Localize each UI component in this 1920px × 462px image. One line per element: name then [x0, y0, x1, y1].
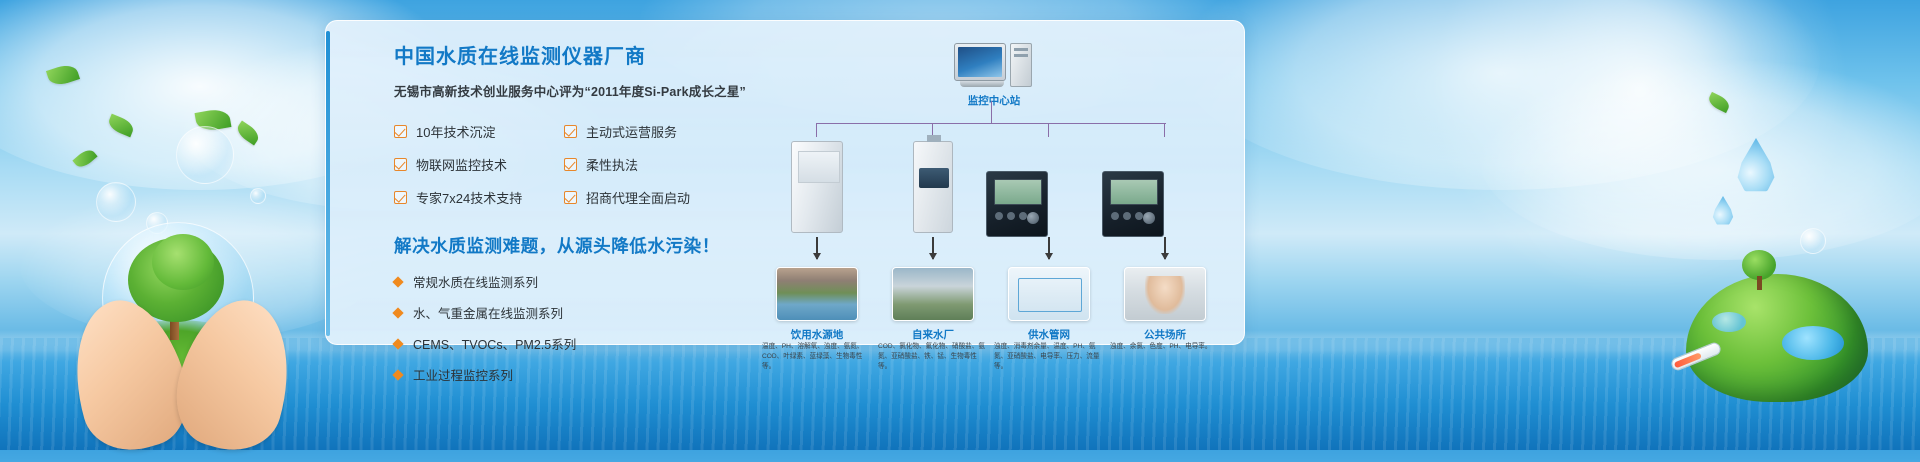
node-description: COD、氯化物、氟化物、硝酸盐、氨氮、亚硝酸盐、铁、锰、生物毒性等。 [878, 342, 990, 372]
earth-island-illustration [1686, 274, 1868, 402]
device-online-analyzer-icon [1102, 171, 1164, 237]
leaf-icon [72, 146, 97, 170]
earth-sea [1712, 312, 1746, 332]
device-cabinet-icon [786, 141, 848, 233]
section-subheading: 解决水质监测难题，从源头降低水污染！ [394, 233, 774, 258]
diamond-bullet-icon [392, 307, 403, 318]
checkbox-checked-icon [564, 158, 577, 171]
node-title: 供水管网 [994, 327, 1104, 342]
checklist-item[interactable]: 招商代理全面启动 [564, 188, 774, 207]
panel-accent-bar [326, 31, 330, 336]
list-item[interactable]: 工业过程监控系列 [394, 365, 774, 384]
tree-crown [152, 234, 214, 290]
checkbox-checked-icon [394, 158, 407, 171]
monitor-icon [954, 43, 1006, 81]
scene-photo-water-plant [892, 267, 974, 321]
checklist-label: 10年技术沉淀 [416, 122, 495, 141]
water-droplet-icon [1712, 196, 1734, 226]
node-description: 浊度、消毒剂余量、温度、PH、氨氮、亚硝酸盐、电导率、压力、流量等。 [994, 342, 1106, 372]
cloud [1180, 0, 1820, 190]
device-online-analyzer-icon [986, 171, 1048, 237]
node-title: 饮用水源地 [762, 327, 872, 342]
node-title: 自来水厂 [878, 327, 988, 342]
cloud [1480, 60, 1920, 260]
monitoring-center-computer-icon [954, 43, 1034, 89]
page-subtitle: 无锡市高新技术创业服务中心评为“2011年度Si-Park成长之星” [394, 81, 774, 100]
leaf-icon [1706, 92, 1731, 113]
diagram-center-label: 监控中心站 [926, 93, 1062, 108]
leaf-icon [234, 120, 262, 145]
checklist-label: 主动式运营服务 [586, 122, 677, 141]
earth-tree [1742, 250, 1776, 290]
monitor-stand [960, 81, 1004, 87]
content-panel: 中国水质在线监测仪器厂商 无锡市高新技术创业服务中心评为“2011年度Si-Pa… [325, 20, 1245, 345]
panel-left-column: 中国水质在线监测仪器厂商 无锡市高新技术创业服务中心评为“2011年度Si-Pa… [394, 43, 774, 384]
connector-lines [816, 111, 1166, 137]
node-description: 温度、PH、溶解氧、浊度、氨氮、COD、叶绿素、蓝绿藻、生物毒性等。 [762, 342, 874, 372]
checklist-label: 柔性执法 [586, 155, 638, 174]
list-item-label: CEMS、TVOCs、PM2.5系列 [413, 334, 576, 353]
arrow-down-icon [1048, 237, 1050, 259]
scene-photo-public-place [1124, 267, 1206, 321]
pc-tower-icon [1010, 43, 1032, 87]
monitoring-topology-diagram: 监控中心站 [776, 37, 1226, 337]
device-analyzer-rack-icon [902, 141, 964, 233]
checkbox-checked-icon [394, 125, 407, 138]
leaf-icon [46, 62, 80, 88]
sun-glow [1430, 0, 1850, 300]
checklist-item[interactable]: 10年技术沉淀 [394, 122, 564, 141]
checkbox-checked-icon [394, 191, 407, 204]
list-item-label: 水、气重金属在线监测系列 [413, 303, 563, 322]
scene-photo-drinking-water-source [776, 267, 858, 321]
checklist-label: 专家7x24技术支持 [416, 188, 522, 207]
diamond-bullet-icon [392, 276, 403, 287]
list-item[interactable]: CEMS、TVOCs、PM2.5系列 [394, 334, 774, 353]
checklist-label: 招商代理全面启动 [586, 188, 690, 207]
checkbox-checked-icon [564, 125, 577, 138]
checklist-item[interactable]: 主动式运营服务 [564, 122, 774, 141]
diamond-bullet-icon [392, 338, 403, 349]
checklist-label: 物联网监控技术 [416, 155, 507, 174]
list-item-label: 常规水质在线监测系列 [413, 272, 538, 291]
list-item-label: 工业过程监控系列 [413, 365, 513, 384]
arrow-down-icon [1164, 237, 1166, 259]
earth-sea [1782, 326, 1844, 360]
list-item[interactable]: 常规水质在线监测系列 [394, 272, 774, 291]
node-description: 浊度、余氯、色度、PH、电导率。 [1110, 342, 1222, 352]
bubble [96, 182, 136, 222]
scene-photo-pipe-network [1008, 267, 1090, 321]
arrow-down-icon [816, 237, 818, 259]
page-title: 中国水质在线监测仪器厂商 [394, 43, 774, 71]
product-series-list: 常规水质在线监测系列 水、气重金属在线监测系列 CEMS、TVOCs、PM2.5… [394, 272, 774, 384]
checklist-item[interactable]: 专家7x24技术支持 [394, 188, 564, 207]
node-title: 公共场所 [1110, 327, 1220, 342]
diamond-bullet-icon [392, 369, 403, 380]
feature-checklist: 10年技术沉淀 主动式运营服务 物联网监控技术 柔性执法 专家7x24技术支持 … [394, 122, 774, 207]
list-item[interactable]: 水、气重金属在线监测系列 [394, 303, 774, 322]
arrow-down-icon [932, 237, 934, 259]
checklist-item[interactable]: 物联网监控技术 [394, 155, 564, 174]
leaf-icon [106, 114, 136, 138]
bubble [176, 126, 234, 184]
hands-holding-tree-illustration [72, 225, 292, 450]
bubble [1800, 228, 1826, 254]
checkbox-checked-icon [564, 191, 577, 204]
water-droplet-icon [1736, 138, 1776, 194]
bubble [250, 188, 266, 204]
checklist-item[interactable]: 柔性执法 [564, 155, 774, 174]
